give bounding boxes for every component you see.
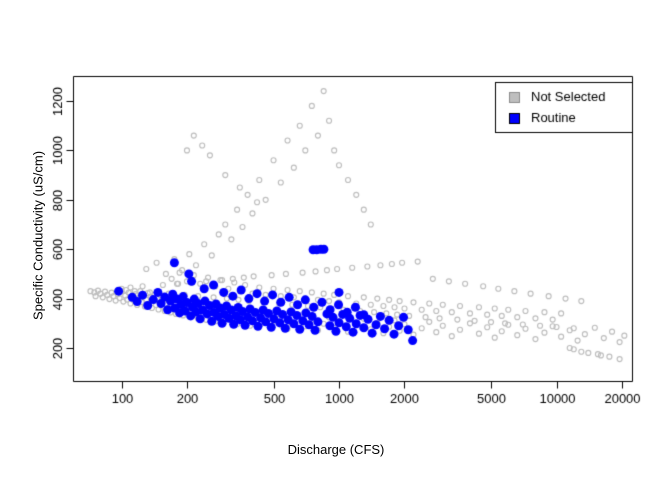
- x-axis-label: Discharge (CFS): [0, 442, 672, 457]
- plot-root: Subsampled Daily Data Subsampled on the …: [0, 0, 672, 480]
- scatter-plot-canvas: [0, 0, 672, 480]
- y-axis-label: Specific Conductivity (uS/cm): [31, 106, 46, 366]
